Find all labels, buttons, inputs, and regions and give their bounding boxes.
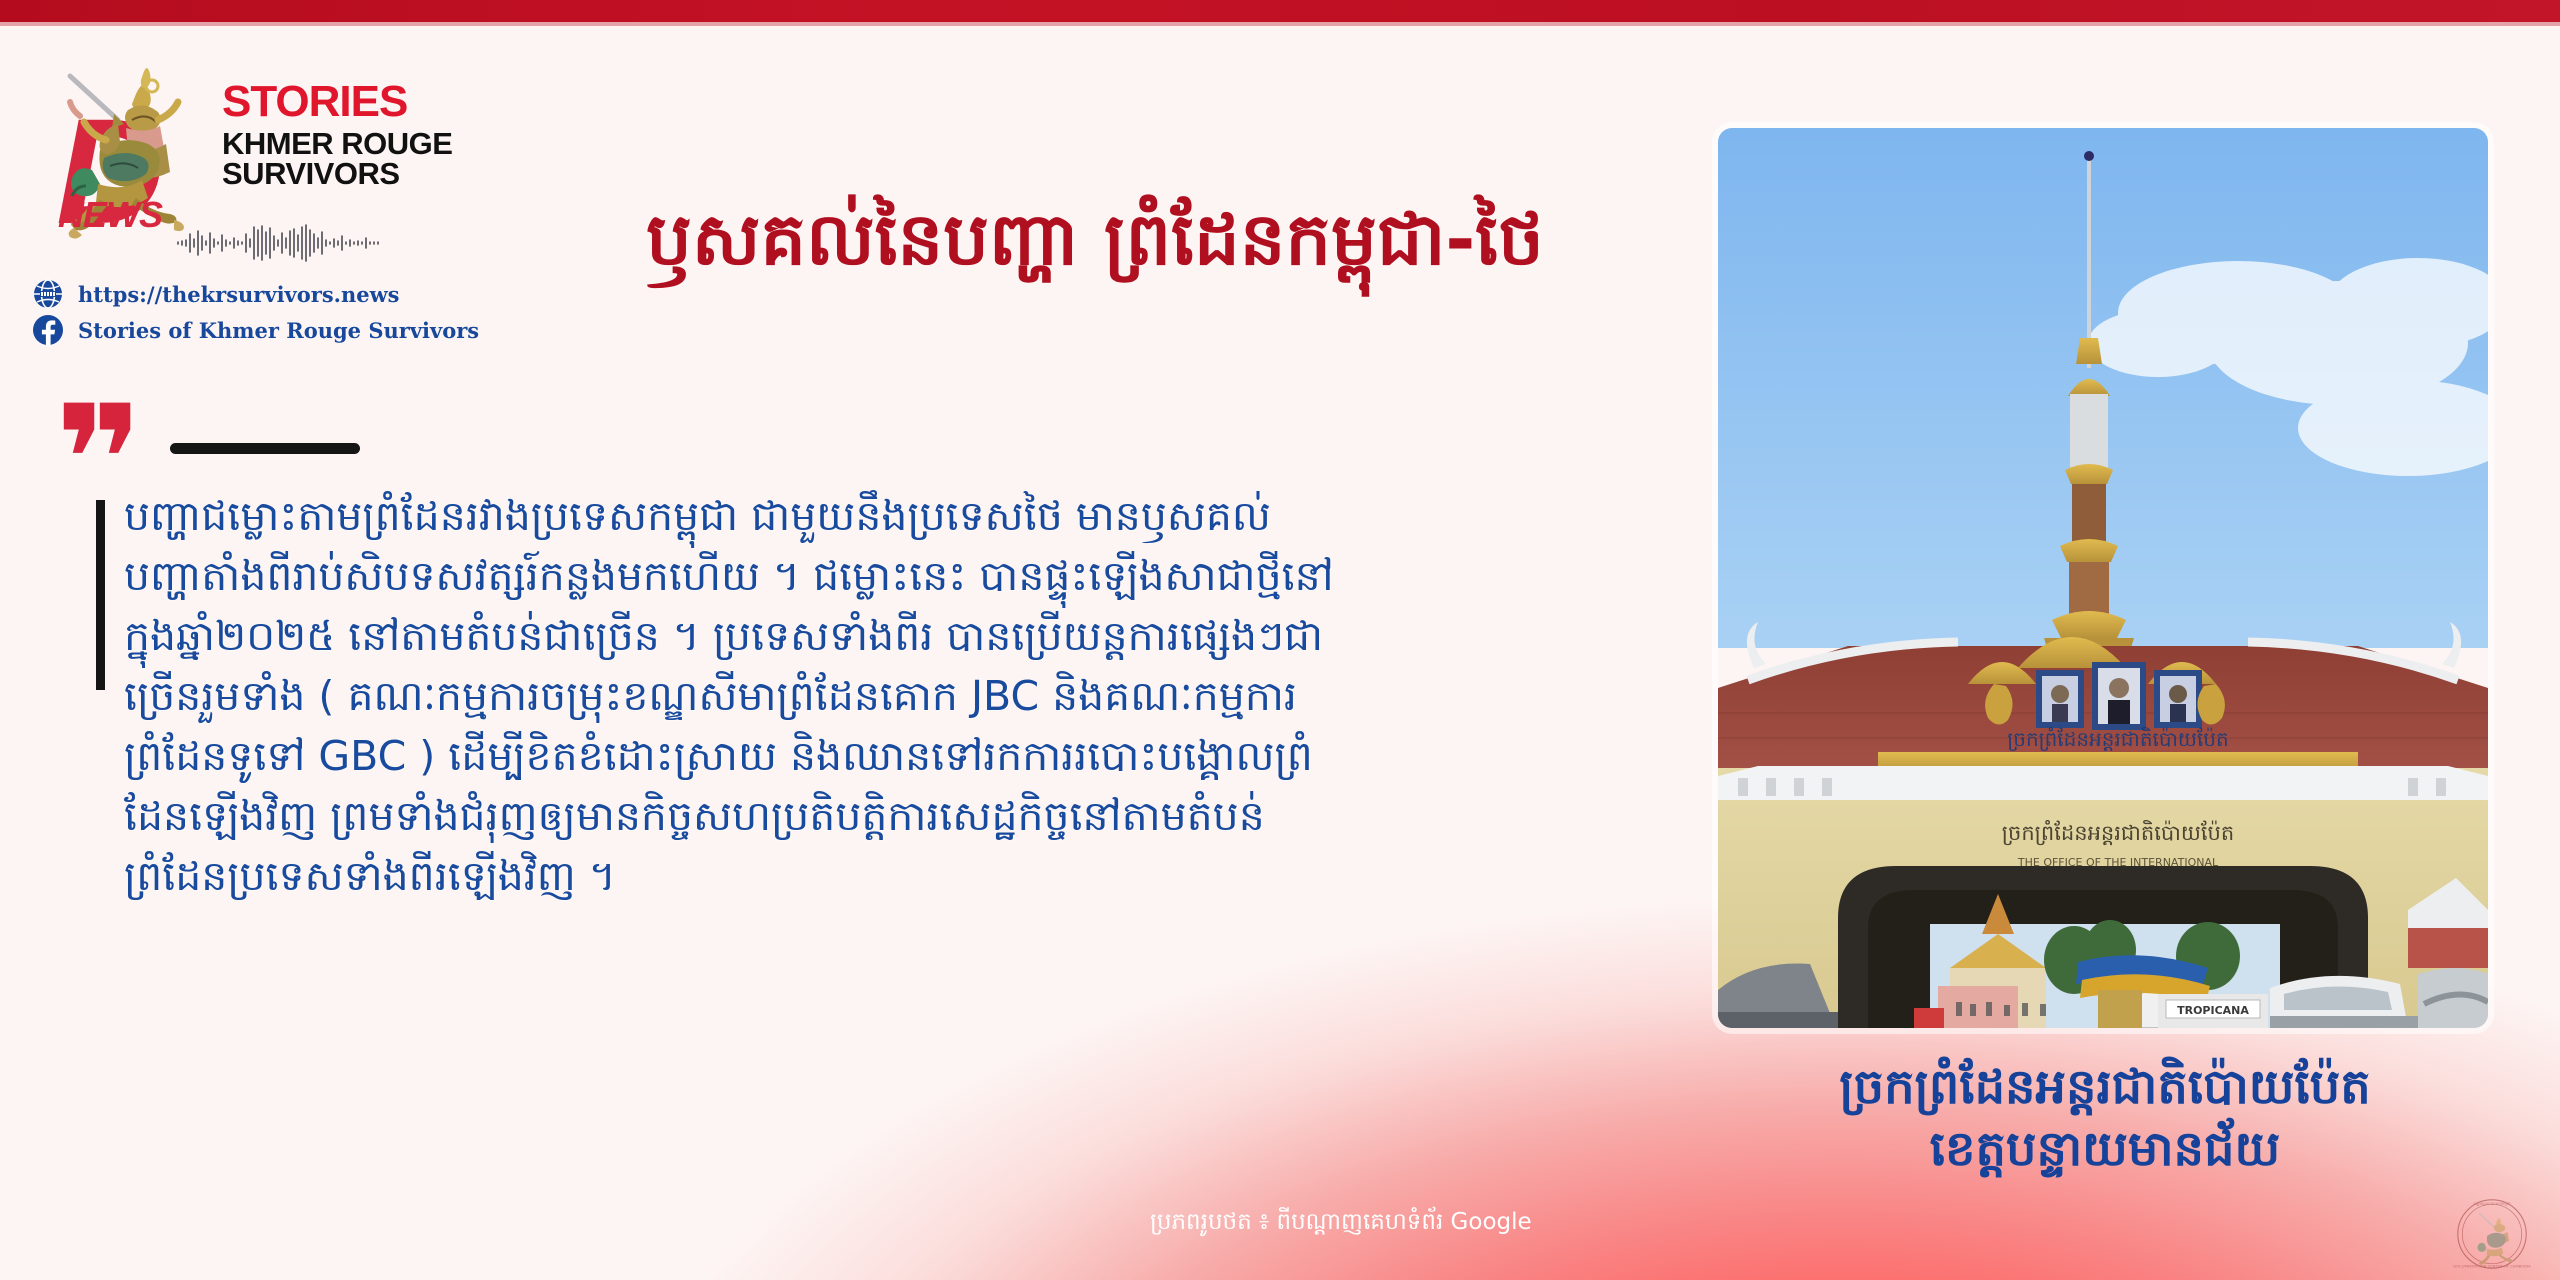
facebook-row[interactable]: Stories of Khmer Rouge Survivors — [32, 312, 552, 348]
body-line: ព្រំដែនទូទៅ GBC ) ដើម្បីខិតខំដោះស្រាយ និ… — [124, 726, 1684, 786]
logo-stories-word: STORIES — [222, 80, 407, 124]
top-accent-bar — [0, 0, 2560, 22]
audio-waveform-icon — [176, 222, 386, 264]
facebook-icon — [32, 314, 64, 346]
caption-line-2: ខេត្តបន្ទាយមានជ័យ — [1690, 1118, 2520, 1180]
body-line: ច្រើនរួមទាំង ( គណៈកម្មការចម្រុះខណ្ឌសីមាព… — [124, 666, 1684, 726]
svg-text:ច្រកព្រំដែនអន្តរជាតិប៉ោយប៉ែត: ច្រកព្រំដែនអន្តរជាតិប៉ោយប៉ែត — [2007, 726, 2228, 751]
svg-text:TROPICANA: TROPICANA — [2177, 1004, 2249, 1017]
quote-rule — [170, 443, 360, 454]
body-line: ព្រំដែនប្រទេសទាំងពីរឡើងវិញ ។ — [124, 846, 1684, 906]
poster-canvas: D — [0, 0, 2560, 1280]
contact-links: https://thekrsurvivors.news Stories of K… — [32, 276, 552, 348]
photo-illustration: ច្រកព្រំដែនអន្តរជាតិប៉ោយប៉ែត ច្រកព្រំដែន… — [1718, 128, 2488, 1028]
svg-text:ច្រកព្រំដែនអន្តរជាតិប៉ោយប៉ែត: ច្រកព្រំដែនអន្តរជាតិប៉ោយប៉ែត — [2002, 820, 2234, 846]
body-line: ដែនឡើងវិញ ព្រមទាំងជំរុញឲ្យមានកិច្ចសហប្រត… — [124, 786, 1684, 846]
body-line: បញ្ហាតាំងពីរាប់សិបទសវត្សរ៍កន្លងមកហើយ ។ ជ… — [124, 546, 1684, 606]
logo-news-word: NEWS — [58, 194, 162, 236]
globe-icon — [32, 278, 64, 310]
facebook-page-name[interactable]: Stories of Khmer Rouge Survivors — [78, 318, 479, 343]
border-gate-photo: ច្រកព្រំដែនអន្តរជាតិប៉ោយប៉ែត ច្រកព្រំដែន… — [1718, 128, 2488, 1028]
logo-survivors-line: SURVIVORS — [222, 158, 400, 189]
brand-logo: D — [40, 36, 510, 226]
dc-cam-seal-icon: មជ្ឈមណ្ឌលឯកសារកម្ពុជា DOCUMENTATION CENT… — [2438, 1196, 2546, 1272]
website-url[interactable]: https://thekrsurvivors.news — [78, 282, 399, 307]
photo-caption: ច្រកព្រំដែនអន្តរជាតិប៉ោយប៉ែត ខេត្តបន្ទាយ… — [1690, 1056, 2520, 1180]
svg-text:មជ្ឈមណ្ឌលឯកសារកម្ពុជា: មជ្ឈមណ្ឌលឯកសារកម្ពុជា — [2473, 1201, 2511, 1207]
quote-left-bar — [96, 500, 105, 690]
article-body: បញ្ហាជម្លោះតាមព្រំដែនរវាងប្រទេសកម្ពុជា ជ… — [124, 486, 1684, 906]
body-line: ក្នុងឆ្នាំ២០២៥ នៅតាមតំបន់ជាច្រើន ។ ប្រទេ… — [124, 606, 1684, 666]
website-row[interactable]: https://thekrsurvivors.news — [32, 276, 552, 312]
body-line: បញ្ហាជម្លោះតាមព្រំដែនរវាងប្រទេសកម្ពុជា ជ… — [124, 486, 1684, 546]
svg-text:DOCUMENTATION CENTER OF CAMBOD: DOCUMENTATION CENTER OF CAMBODIA — [2453, 1264, 2531, 1268]
headline: ឫសគល់នៃបញ្ហា ព្រំដែនកម្ពុជា-ថៃ — [560, 196, 1630, 282]
logo-khmer-rouge-line: KHMER ROUGE — [222, 128, 452, 159]
photo-credit: ប្រភពរូបថត ៖ ពីបណ្តាញគេហទំព័រ Google — [1150, 1208, 1532, 1241]
caption-line-1: ច្រកព្រំដែនអន្តរជាតិប៉ោយប៉ែត — [1690, 1056, 2520, 1118]
